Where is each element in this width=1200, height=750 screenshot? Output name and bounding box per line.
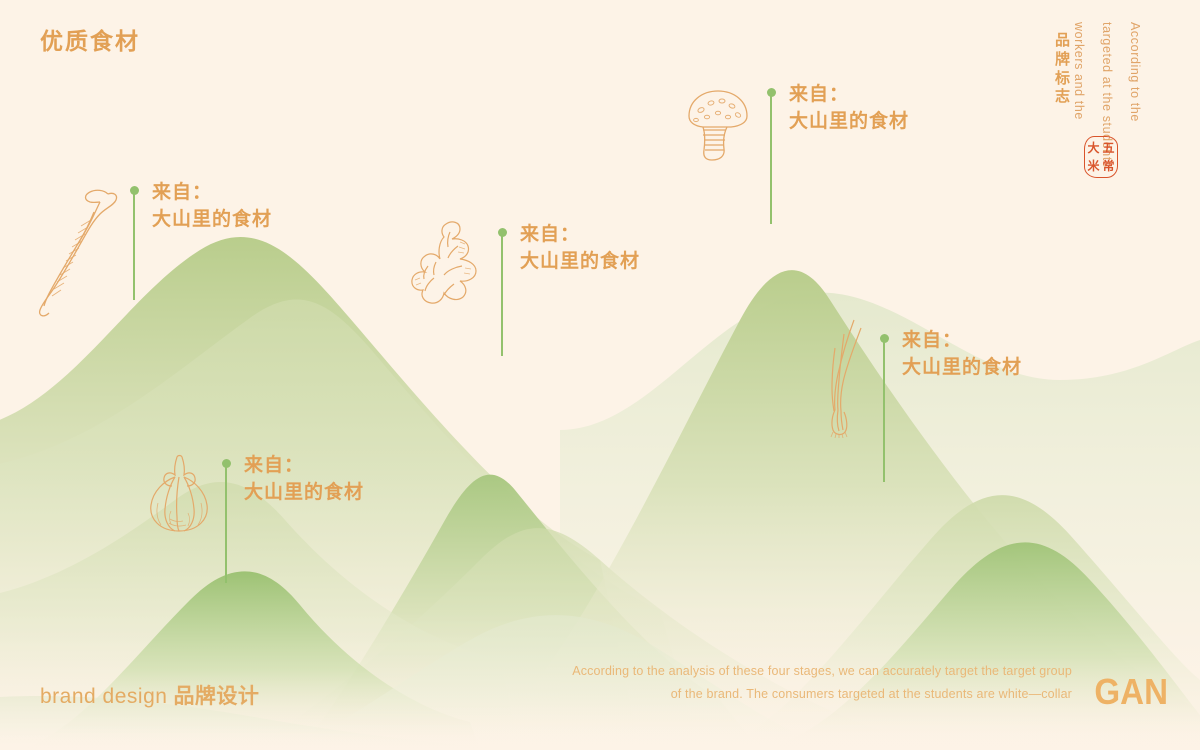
callout-label-ginger: 来自： 大山里的食材 [520, 222, 640, 276]
callout-label-garlic: 来自： 大山里的食材 [244, 453, 364, 507]
seal-characters: 五 常 大 米 [1086, 139, 1116, 175]
callout-label-chili: 来自： 大山里的食材 [152, 180, 272, 234]
footer-logo-gan: GAN [1094, 674, 1168, 710]
brand-vertical-line-1: According to the [1128, 22, 1142, 122]
garlic-bulb-icon [144, 453, 218, 537]
page-title: 优质食材 [40, 22, 140, 56]
pin-line [133, 190, 135, 300]
footer-paragraph: According to the analysis of these four … [492, 660, 1072, 706]
pin-line [883, 338, 885, 482]
pin-line [501, 232, 503, 356]
poster-canvas: 优质食材 品牌标志 workers and the targeted at th… [0, 0, 1200, 750]
callout-line1: 来自： [244, 453, 364, 480]
callout-label-scallion: 来自： 大山里的食材 [902, 328, 1022, 382]
callout-line1: 来自： [902, 328, 1022, 355]
brand-vertical-line-3: workers and the [1072, 22, 1086, 120]
seal-char-3: 大 [1087, 142, 1099, 154]
mushroom-icon [681, 86, 759, 164]
brand-logo-block: 品牌标志 workers and the targeted at the stu… [1042, 14, 1172, 194]
seal-char-1: 五 [1102, 142, 1114, 154]
footer-brand-en: brand design [40, 685, 167, 708]
seal-char-4: 米 [1087, 160, 1099, 172]
seal-char-2: 常 [1102, 160, 1114, 172]
callout-line2: 大山里的食材 [520, 249, 640, 276]
callout-line1: 来自： [152, 180, 272, 207]
ginger-root-icon [410, 218, 496, 310]
footer-paragraph-line2: of the brand. The consumers targeted at … [492, 683, 1072, 706]
brand-seal-stamp: 五 常 大 米 [1084, 136, 1118, 178]
callout-label-mushroom: 来自： 大山里的食材 [789, 82, 909, 136]
chili-pepper-icon [34, 186, 124, 321]
callout-line2: 大山里的食材 [902, 355, 1022, 382]
footer-brand-design: brand design品牌设计 [40, 680, 259, 710]
footer-brand-cn: 品牌设计 [173, 685, 259, 708]
callout-line2: 大山里的食材 [152, 207, 272, 234]
pin-line [225, 463, 227, 583]
scallion-icon [814, 318, 874, 438]
callout-line1: 来自： [520, 222, 640, 249]
pin-line [770, 92, 772, 224]
callout-line2: 大山里的食材 [244, 480, 364, 507]
footer-paragraph-line1: According to the analysis of these four … [492, 660, 1072, 683]
callout-line2: 大山里的食材 [789, 109, 909, 136]
callout-line1: 来自： [789, 82, 909, 109]
